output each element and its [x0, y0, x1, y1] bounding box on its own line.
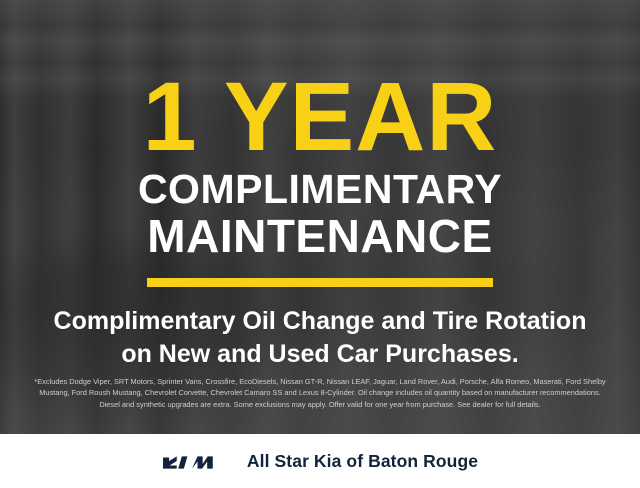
headline-secondary-line-1: COMPLIMENTARY [138, 166, 502, 212]
headline-secondary: COMPLIMENTARY MAINTENANCE [138, 167, 502, 261]
disclaimer-line-2: Mustang, Ford Roush Mustang, Chevrolet C… [8, 387, 632, 398]
footer-bar: All Star Kia of Baton Rouge [0, 434, 640, 488]
hero-content: 1 YEAR COMPLIMENTARY MAINTENANCE Complim… [0, 0, 640, 434]
headline-primary: 1 YEAR [143, 72, 498, 161]
disclaimer-line-3: Diesel and synthetic upgrades are extra.… [8, 399, 632, 410]
disclaimer-line-1: *Excludes Dodge Viper, SRT Motors, Sprin… [8, 376, 632, 387]
promotional-ad-banner: 1 YEAR COMPLIMENTARY MAINTENANCE Complim… [0, 0, 640, 488]
hero-section: 1 YEAR COMPLIMENTARY MAINTENANCE Complim… [0, 0, 640, 434]
kia-logo-icon [162, 452, 228, 471]
footer-branding: All Star Kia of Baton Rouge [162, 451, 478, 472]
offer-line-1: Complimentary Oil Change and Tire Rotati… [54, 307, 587, 335]
disclaimer-text: *Excludes Dodge Viper, SRT Motors, Sprin… [0, 376, 640, 410]
dealer-name: All Star Kia of Baton Rouge [247, 451, 478, 472]
yellow-divider-rule [147, 278, 493, 287]
offer-line-2: on New and Used Car Purchases. [121, 340, 518, 368]
headline-secondary-line-2: MAINTENANCE [138, 212, 502, 262]
offer-description: Complimentary Oil Change and Tire Rotati… [54, 305, 587, 371]
